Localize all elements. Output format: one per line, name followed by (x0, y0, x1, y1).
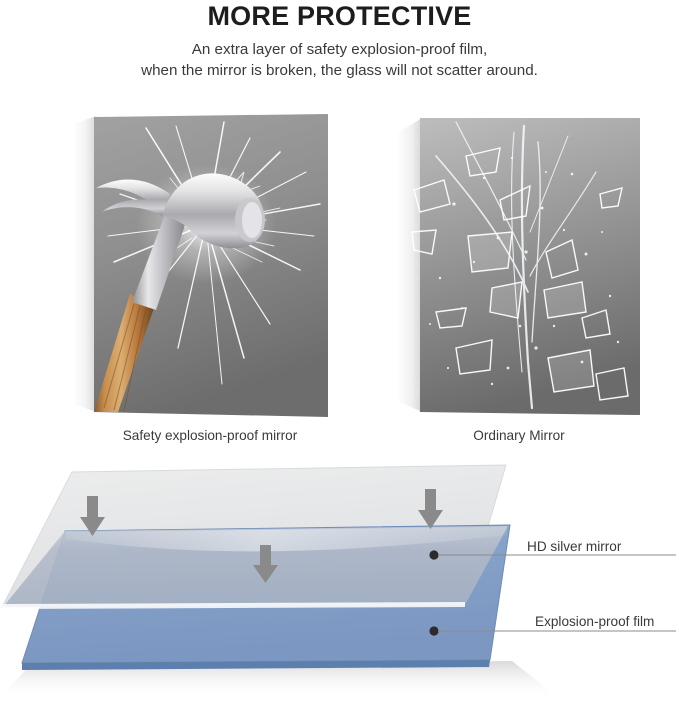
caption-ordinary-mirror: Ordinary Mirror (396, 427, 642, 445)
infographic-root: MORE PROTECTIVE An extra layer of safety… (0, 0, 679, 699)
shattered-glass-illustration (396, 112, 642, 419)
label-explosion-proof-film: Explosion-proof film (535, 613, 654, 631)
comparison-image-ordinary-mirror (396, 112, 642, 419)
caption-safety-mirror: Safety explosion-proof mirror (74, 427, 346, 445)
layer-structure-diagram (0, 455, 679, 699)
comparison-image-safety-mirror (74, 112, 330, 419)
layered-sheets-illustration (0, 455, 679, 699)
subtitle-line-2: when the mirror is broken, the glass wil… (0, 60, 679, 81)
hammer-cracked-mirror-illustration (74, 112, 330, 419)
page-title: MORE PROTECTIVE (0, 0, 679, 33)
label-hd-silver-mirror: HD silver mirror (527, 538, 621, 556)
subtitle-line-1: An extra layer of safety explosion-proof… (0, 39, 679, 60)
